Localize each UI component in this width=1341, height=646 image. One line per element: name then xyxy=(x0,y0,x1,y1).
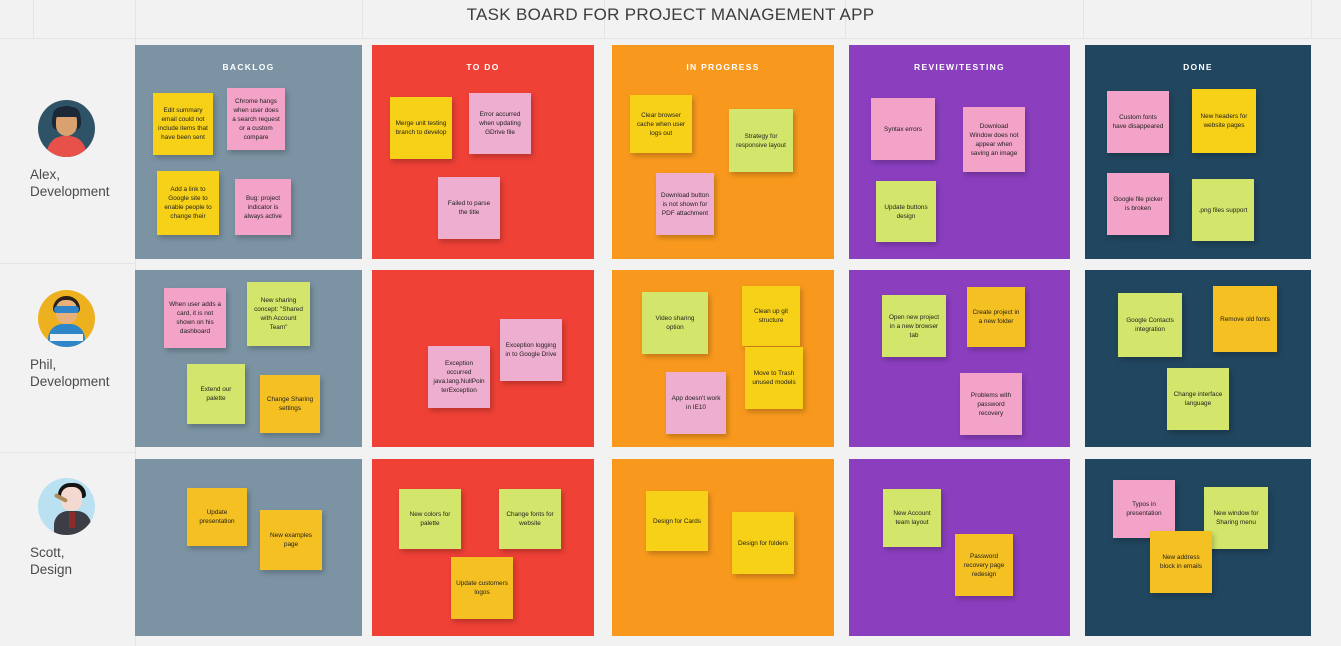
cell-phil-review[interactable]: Open new project in a new browser tab Cr… xyxy=(849,270,1070,447)
note-card[interactable]: Video sharing option xyxy=(642,292,708,354)
avatar-shirt xyxy=(47,136,86,157)
note-card[interactable]: Error accurred when updating GDrive file xyxy=(469,93,531,154)
note-card[interactable]: Merge unit testing branch to develop xyxy=(390,97,452,159)
note-card[interactable]: Update customers logos xyxy=(451,557,513,619)
cell-alex-in-progress[interactable]: IN PROGRESS Clear browser cache when use… xyxy=(612,45,834,259)
cell-scott-in-progress[interactable]: Design for Cards Design for folders xyxy=(612,459,834,636)
person-phil: Phil, Development xyxy=(30,290,140,390)
avatar-sunglasses xyxy=(54,306,79,313)
note-card[interactable]: Open new project in a new browser tab xyxy=(882,295,946,357)
note-card[interactable]: New colors for palette xyxy=(399,489,461,549)
person-role: Development xyxy=(30,183,140,200)
note-card[interactable]: Failed to parse the title xyxy=(438,177,500,239)
note-card[interactable]: Exception occurred java.lang.NullPointer… xyxy=(428,346,490,408)
note-card[interactable]: New sharing concept: "Shared with Accoun… xyxy=(247,282,310,346)
note-card[interactable]: New window for Sharing menu xyxy=(1204,487,1268,549)
grid-line xyxy=(0,38,1341,39)
note-card[interactable]: Create project in a new folder xyxy=(967,287,1025,347)
grid-line xyxy=(0,452,135,453)
person-name: Phil, xyxy=(30,356,140,373)
note-card[interactable]: Extend our palette xyxy=(187,364,245,424)
note-card[interactable]: Custom fonts have disappeared xyxy=(1107,91,1169,153)
note-card[interactable]: Change interface language xyxy=(1167,368,1229,430)
note-card[interactable]: Update presentation xyxy=(187,488,247,546)
note-card[interactable]: Design for folders xyxy=(732,512,794,574)
note-card[interactable]: Google Contacts integration xyxy=(1118,293,1182,357)
note-card[interactable]: Password recovery page redesign xyxy=(955,534,1013,596)
person-name: Alex, xyxy=(30,166,140,183)
cell-phil-done[interactable]: Google Contacts integration Remove old f… xyxy=(1085,270,1311,447)
column-header-done: DONE xyxy=(1085,45,1311,72)
note-card[interactable]: .png files support xyxy=(1192,179,1254,241)
person-label: Scott, Design xyxy=(30,544,140,578)
column-header-review: REVIEW/TESTING xyxy=(849,45,1070,72)
note-card[interactable]: Problems with password recovery xyxy=(960,373,1022,435)
avatar-scott xyxy=(38,478,95,535)
note-card[interactable]: App doesn't work in IE10 xyxy=(666,372,726,434)
person-role: Development xyxy=(30,373,140,390)
cell-alex-review[interactable]: REVIEW/TESTING Syntax errors Download Wi… xyxy=(849,45,1070,259)
note-card[interactable]: Exception logging in to Google Drive xyxy=(500,319,562,381)
note-card[interactable]: New examples page xyxy=(260,510,322,570)
cell-phil-backlog[interactable]: When user adds a card, it is not shown o… xyxy=(135,270,362,447)
note-card[interactable]: Chrome hangs when user does a search req… xyxy=(227,88,285,150)
note-card[interactable]: Update buttons design xyxy=(876,181,936,242)
avatar-alex xyxy=(38,100,95,157)
note-card[interactable]: Add a link to Google site to enable peop… xyxy=(157,171,219,235)
avatar-shirt-stripe xyxy=(50,334,83,341)
person-label: Alex, Development xyxy=(30,166,140,200)
column-header-backlog: BACKLOG xyxy=(135,45,362,72)
person-label: Phil, Development xyxy=(30,356,140,390)
cell-alex-todo[interactable]: TO DO Merge unit testing branch to devel… xyxy=(372,45,594,259)
note-card[interactable]: Google file picker is broken xyxy=(1107,173,1169,235)
note-card[interactable]: Change Sharing settings xyxy=(260,375,320,433)
note-card[interactable]: Edit summary email could not include ite… xyxy=(153,93,213,155)
person-name: Scott, xyxy=(30,544,140,561)
cell-scott-done[interactable]: Typos in presentation New window for Sha… xyxy=(1085,459,1311,636)
cell-phil-in-progress[interactable]: Video sharing option Clean up git struct… xyxy=(612,270,834,447)
cell-scott-todo[interactable]: New colors for palette Change fonts for … xyxy=(372,459,594,636)
note-card[interactable]: Remove old fonts xyxy=(1213,286,1277,352)
avatar-fringe xyxy=(53,107,80,117)
note-card[interactable]: When user adds a card, it is not shown o… xyxy=(164,288,226,348)
note-card[interactable]: New headers for website pages xyxy=(1192,89,1256,153)
note-card[interactable]: Syntax errors xyxy=(871,98,935,160)
avatar-phil xyxy=(38,290,95,347)
avatar-tie xyxy=(69,512,75,528)
cell-scott-backlog[interactable]: Update presentation New examples page xyxy=(135,459,362,636)
column-header-in-progress: IN PROGRESS xyxy=(612,45,834,72)
note-card[interactable]: Clear browser cache when user logs out xyxy=(630,95,692,153)
page-title: TASK BOARD FOR PROJECT MANAGEMENT APP xyxy=(0,5,1341,25)
note-card[interactable]: Change fonts for website xyxy=(499,489,561,549)
task-board-canvas: TASK BOARD FOR PROJECT MANAGEMENT APP Al… xyxy=(0,0,1341,646)
cell-alex-done[interactable]: DONE Custom fonts have disappeared New h… xyxy=(1085,45,1311,259)
grid-line xyxy=(0,263,135,264)
note-card[interactable]: Download button is not shown for PDF att… xyxy=(656,173,714,235)
note-card[interactable]: Clean up git structure xyxy=(742,286,800,346)
note-card[interactable]: Design for Cards xyxy=(646,491,708,551)
column-header-todo: TO DO xyxy=(372,45,594,72)
note-card[interactable]: Download Window does not appear when sav… xyxy=(963,107,1025,172)
cell-alex-backlog[interactable]: BACKLOG Edit summary email could not inc… xyxy=(135,45,362,259)
note-card[interactable]: New Account team layout xyxy=(883,489,941,547)
cell-phil-todo[interactable]: Exception occurred java.lang.NullPointer… xyxy=(372,270,594,447)
note-card[interactable]: Bug: project indicator is always active xyxy=(235,179,291,235)
note-card[interactable]: New address block in emails xyxy=(1150,531,1212,593)
person-role: Design xyxy=(30,561,140,578)
note-card[interactable]: Typos in presentation xyxy=(1113,480,1175,538)
cell-scott-review[interactable]: New Account team layout Password recover… xyxy=(849,459,1070,636)
note-card[interactable]: Move to Trash unused models xyxy=(745,347,803,409)
person-alex: Alex, Development xyxy=(30,100,140,200)
note-card[interactable]: Strategy for responsive layout xyxy=(729,109,793,172)
person-scott: Scott, Design xyxy=(30,478,140,578)
